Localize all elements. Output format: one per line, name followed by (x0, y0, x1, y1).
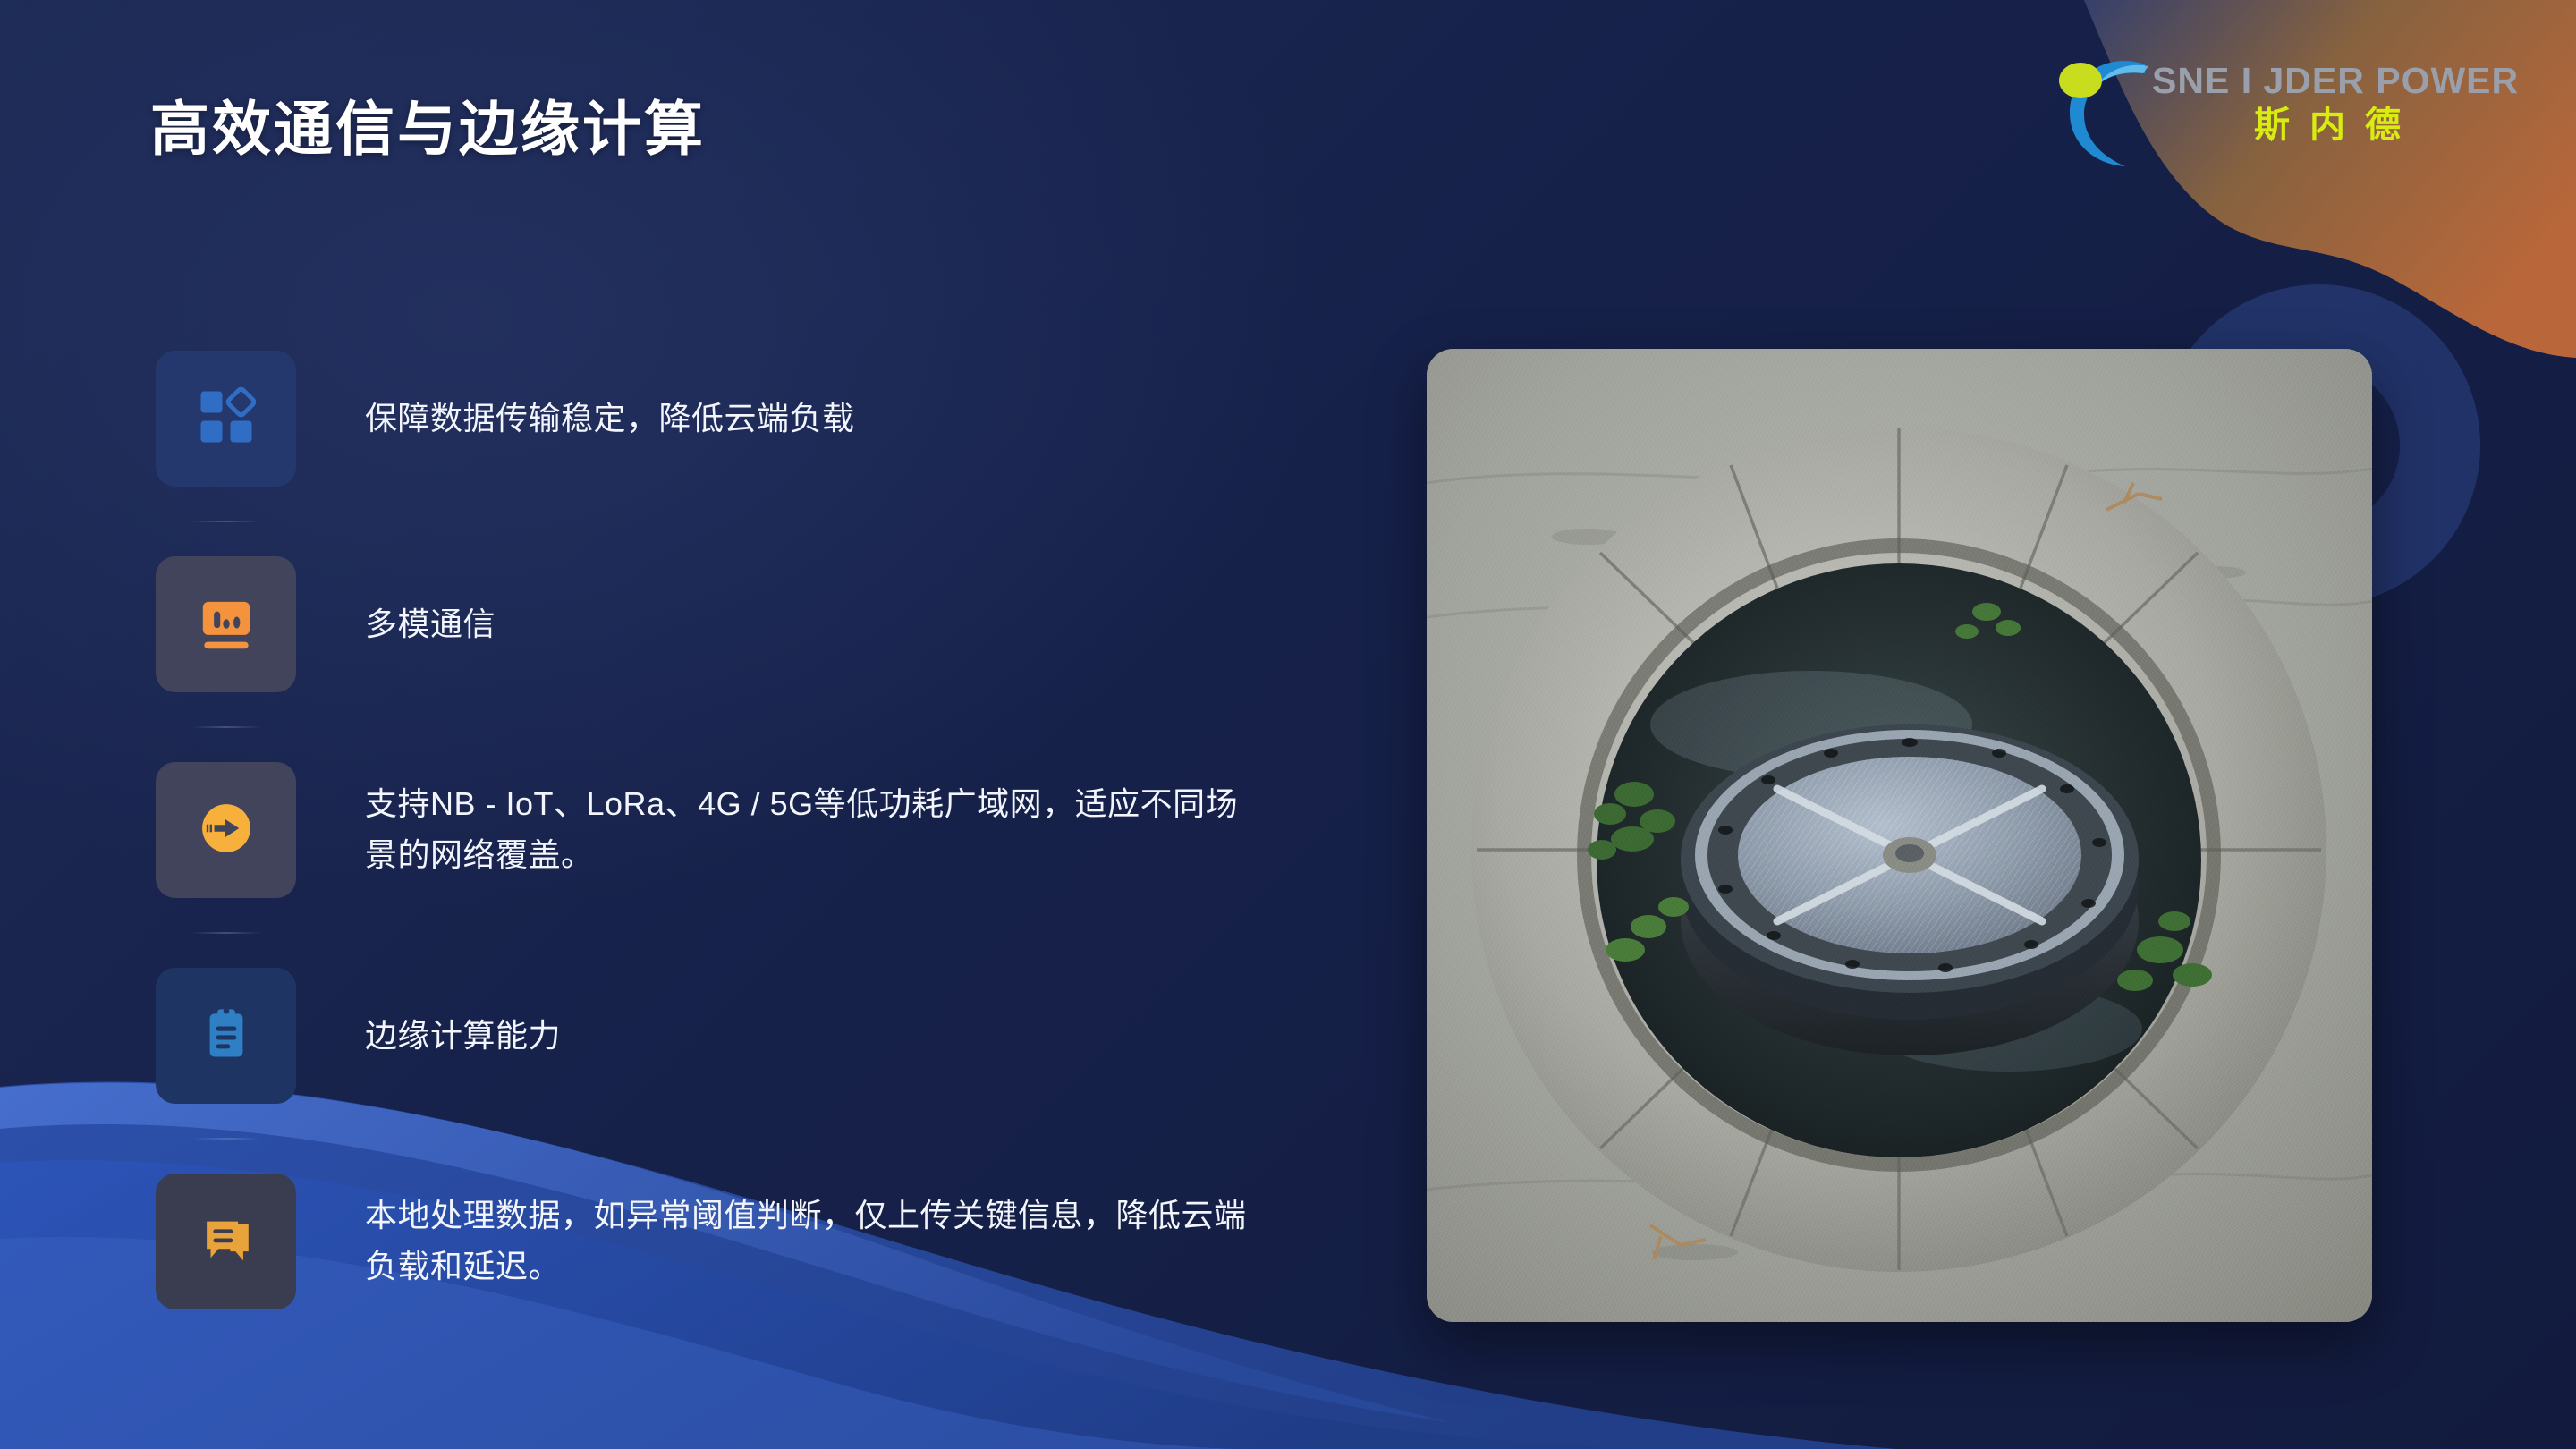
bullet-icon-tile (156, 762, 296, 898)
tile-divider (191, 932, 261, 934)
manhole-well-sensor-photo (1427, 349, 2372, 1322)
chat-bubbles-icon (195, 1208, 258, 1275)
tile-divider (191, 1138, 261, 1140)
logo-english-text: SNE I JDER POWER (2152, 63, 2483, 99)
list-item-text: 多模通信 (365, 599, 496, 650)
logo-chinese-text: 斯内德 (2152, 107, 2483, 143)
bullet-icon-tile (156, 1174, 296, 1309)
arrow-right-circle-icon (192, 794, 260, 867)
list-item[interactable]: 保障数据传输稳定，降低云端负载 (156, 351, 1274, 487)
page-title: 高效通信与边缘计算 (150, 97, 706, 162)
bullet-icon-tile (156, 968, 296, 1104)
photo-grain-overlay (1427, 349, 2372, 1322)
list-item[interactable]: 多模通信 (156, 556, 1274, 692)
list-item[interactable]: 边缘计算能力 (156, 968, 1274, 1104)
dashboard-grid-icon (194, 385, 258, 453)
list-item-text: 本地处理数据，如异常阈值判断，仅上传关键信息，降低云端负载和延迟。 (365, 1191, 1268, 1292)
list-item-text: 边缘计算能力 (365, 1011, 561, 1062)
clipboard-list-icon (196, 1004, 257, 1069)
list-item-text: 支持NB - IoT、LoRa、4G / 5G等低功耗广域网，适应不同场景的网络… (365, 779, 1268, 881)
list-item[interactable]: 本地处理数据，如异常阈值判断，仅上传关键信息，降低云端负载和延迟。 (156, 1174, 1274, 1309)
bullet-icon-tile (156, 351, 296, 487)
signal-monitor-icon (193, 589, 259, 660)
list-item-text: 保障数据传输稳定，降低云端负载 (365, 394, 855, 445)
list-item[interactable]: 支持NB - IoT、LoRa、4G / 5G等低功耗广域网，适应不同场景的网络… (156, 762, 1274, 898)
slide-root: 高效通信与边缘计算 SNE I JDER POWER 斯内德 (0, 0, 2576, 1449)
tile-divider (191, 726, 261, 728)
bullet-list: 保障数据传输稳定，降低云端负载 多模通信 (156, 351, 1274, 1309)
company-logo: SNE I JDER POWER 斯内德 (2055, 47, 2476, 172)
tile-divider (191, 521, 261, 522)
bullet-icon-tile (156, 556, 296, 692)
swoosh-logo-icon (2055, 50, 2165, 168)
